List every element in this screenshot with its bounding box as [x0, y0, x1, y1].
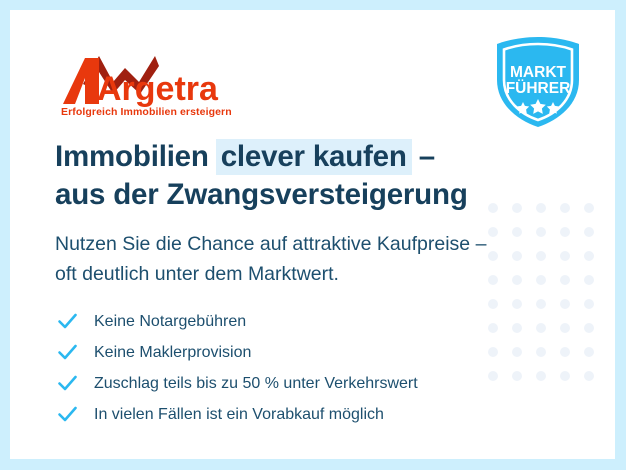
- argetra-logo[interactable]: Argetra Erfolgreich Immobilien ersteiger…: [55, 42, 245, 120]
- decorative-dot: [584, 203, 594, 213]
- decorative-dot: [536, 203, 546, 213]
- headline-prefix: Immobilien: [55, 140, 217, 173]
- headline-suffix: –: [411, 140, 435, 173]
- list-item-label: Keine Notargebühren: [94, 314, 246, 330]
- decorative-dot: [584, 323, 594, 333]
- list-item-label: Keine Maklerprovision: [94, 345, 251, 361]
- page-title: Immobilien clever kaufen – aus der Zwang…: [55, 138, 468, 214]
- decorative-dot: [584, 227, 594, 237]
- decorative-dot: [560, 275, 570, 285]
- benefits-list: Keine NotargebührenKeine Maklerprovision…: [57, 306, 418, 430]
- list-item: Keine Maklerprovision: [57, 337, 418, 368]
- shield-icon: MARKT FÜHRER: [493, 36, 583, 128]
- decorative-dot: [584, 371, 594, 381]
- decorative-dot: [584, 299, 594, 309]
- decorative-dot: [560, 251, 570, 261]
- list-item: In vielen Fällen ist ein Vorabkauf mögli…: [57, 399, 418, 430]
- promo-banner: Argetra Erfolgreich Immobilien ersteiger…: [0, 0, 626, 470]
- decorative-dot: [560, 371, 570, 381]
- decorative-dot: [488, 227, 498, 237]
- check-icon: [57, 342, 78, 363]
- list-item-label: Zuschlag teils bis zu 50 % unter Verkehr…: [94, 376, 418, 392]
- subheadline-line-2: oft deutlich unter dem Marktwert.: [55, 259, 486, 289]
- check-icon: [57, 311, 78, 332]
- decorative-dot: [536, 371, 546, 381]
- decorative-dot: [512, 227, 522, 237]
- decorative-dot: [488, 371, 498, 381]
- logo-tagline: Erfolgreich Immobilien ersteigern: [61, 106, 232, 118]
- headline-line-2: aus der Zwangsversteigerung: [55, 176, 468, 214]
- list-item: Keine Notargebühren: [57, 306, 418, 337]
- decorative-dot: [560, 347, 570, 357]
- badge-line-2: FÜHRER: [506, 80, 571, 97]
- logo-wordmark: Argetra: [97, 70, 219, 108]
- decorative-dot: [584, 275, 594, 285]
- headline-line-1: Immobilien clever kaufen –: [55, 138, 468, 176]
- subheadline-line-1: Nutzen Sie die Chance auf attraktive Kau…: [55, 229, 486, 259]
- decorative-dot: [512, 347, 522, 357]
- decorative-dot: [488, 347, 498, 357]
- decorative-dot: [560, 323, 570, 333]
- check-icon: [57, 404, 78, 425]
- badge-line-1: MARKT: [510, 64, 566, 81]
- decorative-dot: [584, 347, 594, 357]
- subheadline: Nutzen Sie die Chance auf attraktive Kau…: [55, 229, 486, 289]
- headline-highlight: clever kaufen: [216, 139, 412, 175]
- decorative-dot: [488, 275, 498, 285]
- decorative-dot: [536, 299, 546, 309]
- list-item-label: In vielen Fällen ist ein Vorabkauf mögli…: [94, 407, 384, 423]
- decorative-dot: [512, 251, 522, 261]
- decorative-dot: [488, 323, 498, 333]
- banner-canvas: Argetra Erfolgreich Immobilien ersteiger…: [10, 10, 615, 459]
- decorative-dot: [512, 299, 522, 309]
- decorative-dot: [536, 251, 546, 261]
- check-icon: [57, 373, 78, 394]
- list-item: Zuschlag teils bis zu 50 % unter Verkehr…: [57, 368, 418, 399]
- decorative-dot: [536, 347, 546, 357]
- decorative-dot: [488, 299, 498, 309]
- decorative-dot: [512, 275, 522, 285]
- decorative-dot: [560, 227, 570, 237]
- decorative-dot: [536, 275, 546, 285]
- decorative-dot: [512, 371, 522, 381]
- decorative-dot: [488, 251, 498, 261]
- market-leader-badge: MARKT FÜHRER: [493, 36, 583, 128]
- decorative-dot-grid: [481, 196, 601, 388]
- decorative-dot: [536, 323, 546, 333]
- decorative-dot: [512, 323, 522, 333]
- decorative-dot: [560, 299, 570, 309]
- decorative-dot: [584, 251, 594, 261]
- decorative-dot: [560, 203, 570, 213]
- decorative-dot: [536, 227, 546, 237]
- decorative-dot: [512, 203, 522, 213]
- decorative-dot: [488, 203, 498, 213]
